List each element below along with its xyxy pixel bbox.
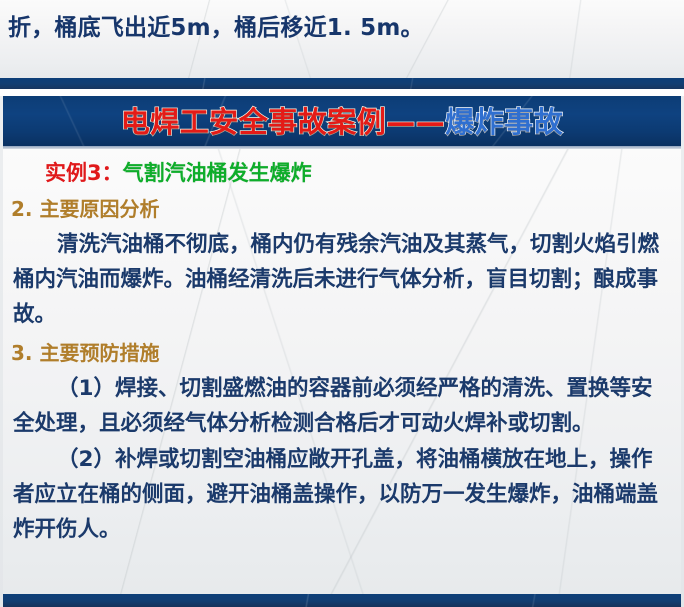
example-title: 气割汽油桶发生爆炸	[123, 161, 312, 185]
slide-title-red-part: 电焊工安全事故案例——	[121, 105, 446, 139]
paragraph-cause-analysis: 清洗汽油桶不彻底，桶内仍有残余汽油及其蒸气，切割火焰引燃桶内汽油而爆炸。油桶经清…	[3, 224, 681, 332]
previous-slide-text: 折，桶底飞出近5m，桶后移近1. 5m。	[8, 8, 424, 42]
current-slide: 电焊工安全事故案例——爆炸事故 实例3：气割汽油桶发生爆炸 2. 主要原因分析 …	[0, 96, 684, 607]
paragraph-measure-2: （2）补焊或切割空油桶应敞开孔盖，将油桶横放在地上，操作者应立在桶的侧面，避开油…	[3, 441, 681, 547]
section-heading-causes: 2. 主要原因分析	[3, 188, 681, 224]
slide-bottom-bar	[3, 594, 681, 607]
example-title-line: 实例3：气割汽油桶发生爆炸	[3, 149, 681, 188]
slide-separator-gap	[0, 89, 684, 96]
slide-body: 实例3：气割汽油桶发生爆炸 2. 主要原因分析 清洗汽油桶不彻底，桶内仍有残余汽…	[3, 149, 681, 594]
slide-page: 折，桶底飞出近5m，桶后移近1. 5m。 电焊工安全事故案例——爆炸事故 实例3…	[0, 0, 684, 607]
previous-slide-bottom-bar	[0, 78, 684, 89]
example-label: 实例3：	[45, 161, 123, 185]
slide-title: 电焊工安全事故案例——爆炸事故	[0, 100, 684, 144]
paragraph-measure-1: （1）焊接、切割盛燃油的容器前必须经严格的清洗、置换等安全处理，且必须经气体分析…	[3, 368, 681, 441]
section-heading-measures: 3. 主要预防措施	[3, 332, 681, 368]
slide-title-blue-part: 爆炸事故	[445, 105, 563, 139]
previous-slide-panel: 折，桶底飞出近5m，桶后移近1. 5m。	[0, 0, 684, 78]
